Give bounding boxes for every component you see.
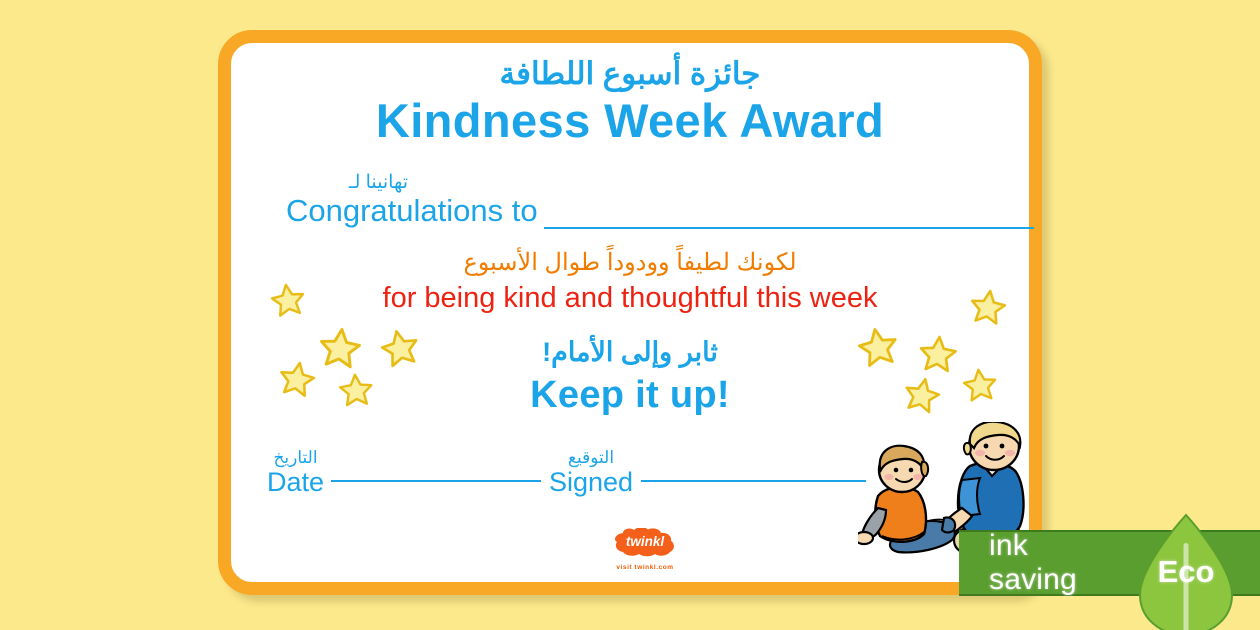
eco-label: Eco: [1136, 554, 1236, 590]
reason-arabic: لكونك لطيفاً وودوداً طوال الأسبوع: [231, 248, 1029, 278]
signed-arabic-label: التوقيع: [549, 448, 633, 468]
star-icon: [967, 286, 1010, 329]
star-icon: [899, 372, 944, 417]
date-field: التاريخ Date: [267, 448, 324, 498]
signed-field: التوقيع Signed: [549, 448, 633, 498]
star-icon: [316, 324, 364, 372]
reason-english: for being kind and thoughtful this week: [231, 280, 1029, 316]
title-arabic: جائزة أسبوع اللطافة: [231, 56, 1029, 93]
congratulations-english-label: Congratulations to: [286, 193, 538, 229]
ink-saving-label: ink saving: [989, 529, 1120, 597]
star-icon: [268, 280, 309, 321]
signed-input-line[interactable]: [641, 480, 866, 482]
recipient-name-line[interactable]: [544, 227, 1034, 229]
reason-block: لكونك لطيفاً وودوداً طوال الأسبوع for be…: [231, 248, 1029, 316]
signed-english-label: Signed: [549, 468, 633, 498]
star-icon: [376, 324, 423, 371]
twinkl-url-text[interactable]: visit twinkl.com: [608, 564, 682, 571]
twinkl-cloud-logo-icon: twinkl: [608, 528, 682, 558]
twinkl-logo: twinkl visit twinkl.com: [608, 528, 682, 571]
svg-text:twinkl: twinkl: [626, 534, 665, 549]
congratulations-arabic-label: تهانينا لـ: [349, 171, 408, 194]
star-icon: [275, 357, 319, 401]
eco-badge: ink saving Eco: [959, 530, 1260, 596]
star-icon: [854, 323, 903, 372]
page-title: جائزة أسبوع اللطافة Kindness Week Award: [231, 43, 1029, 148]
certificate-card: جائزة أسبوع اللطافة Kindness Week Award …: [218, 30, 1042, 595]
congratulations-row: تهانينا لـ Congratulations to: [259, 171, 1019, 233]
star-icon: [916, 332, 959, 375]
eco-leaf-icon: Eco: [1136, 513, 1236, 630]
star-icon: [960, 365, 1000, 405]
star-icon: [337, 371, 375, 409]
title-english: Kindness Week Award: [231, 94, 1029, 148]
date-english-label: Date: [267, 468, 324, 498]
date-input-line[interactable]: [331, 480, 541, 482]
date-arabic-label: التاريخ: [267, 448, 324, 468]
